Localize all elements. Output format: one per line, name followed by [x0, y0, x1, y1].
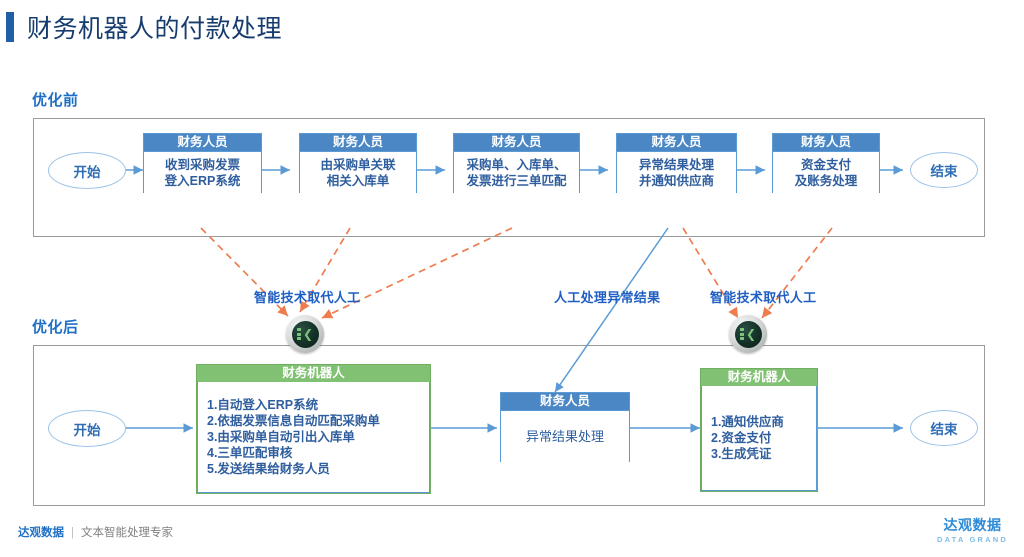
before-step-2-line-2: 相关入库单	[327, 173, 390, 189]
after-step-3-line-3: 3.生成凭证	[711, 446, 771, 462]
section-label-before: 优化前	[32, 89, 79, 110]
robot-bars-icon	[297, 328, 301, 340]
after-step-1-line-1: 1.自动登入ERP系统	[207, 397, 318, 413]
footer-tagline: 文本智能处理专家	[81, 524, 173, 540]
before-step-2-body: 由采购单关联 相关入库单	[300, 151, 416, 193]
after-step-3-body: 1.通知供应商 2.资金支付 3.生成凭证	[701, 386, 817, 491]
end-node-before: 结束	[910, 152, 978, 188]
after-step-2: 财务人员 异常结果处理	[500, 392, 630, 462]
after-step-3: 财务机器人 1.通知供应商 2.资金支付 3.生成凭证	[700, 368, 818, 492]
before-step-2-header: 财务人员	[300, 134, 416, 151]
before-step-1-body: 收到采购发票 登入ERP系统	[144, 151, 261, 193]
before-step-3: 财务人员 采购单、入库单、 发票进行三单匹配	[453, 133, 580, 193]
start-node-before-label: 开始	[74, 161, 101, 181]
start-node-after-label: 开始	[74, 419, 101, 439]
start-node-before: 开始	[48, 152, 126, 189]
before-step-5-header: 财务人员	[773, 134, 879, 151]
title-text: 财务机器人的付款处理	[27, 9, 282, 45]
after-step-3-line-1: 1.通知供应商	[711, 414, 784, 430]
before-step-2-line-1: 由采购单关联	[320, 157, 395, 173]
footer-brand: 达观数据	[18, 524, 64, 540]
before-step-5-line-1: 资金支付	[801, 157, 851, 173]
end-node-before-label: 结束	[931, 160, 958, 180]
robot-icon-2-core: ❮	[735, 321, 762, 348]
before-step-4: 财务人员 异常结果处理 并通知供应商	[616, 133, 737, 193]
before-step-4-line-2: 并通知供应商	[639, 173, 714, 189]
before-step-4-header: 财务人员	[617, 134, 736, 151]
robot-chevron-icon: ❮	[746, 328, 756, 340]
annotation-replace-manual-1: 智能技术取代人工	[254, 287, 360, 306]
after-step-1-line-5: 5.发送结果给财务人员	[207, 461, 330, 477]
after-step-2-body: 异常结果处理	[501, 410, 629, 462]
robot-icon-1-core: ❮	[292, 321, 319, 348]
footer-separator: |	[71, 527, 74, 539]
before-step-4-body: 异常结果处理 并通知供应商	[617, 151, 736, 193]
before-step-4-line-1: 异常结果处理	[639, 157, 714, 173]
before-step-3-header: 财务人员	[454, 134, 579, 151]
end-node-after: 结束	[910, 410, 978, 446]
robot-icon-1: ❮	[286, 315, 324, 353]
annotation-replace-manual-2: 智能技术取代人工	[710, 287, 816, 306]
before-step-5-body: 资金支付 及账务处理	[773, 151, 879, 193]
company-logo-cn: 达观数据	[937, 518, 1008, 533]
robot-chevron-icon: ❮	[303, 328, 313, 340]
annotation-manual-exception: 人工处理异常结果	[554, 287, 660, 306]
robot-bars-icon	[740, 328, 744, 340]
start-node-after: 开始	[48, 410, 126, 447]
before-step-1-header: 财务人员	[144, 134, 261, 151]
before-step-1-line-1: 收到采购发票	[165, 157, 240, 173]
slide-root: 财务机器人的付款处理 优化前 优化后	[0, 0, 1024, 557]
page-title: 财务机器人的付款处理	[0, 8, 282, 46]
before-step-1: 财务人员 收到采购发票 登入ERP系统	[143, 133, 262, 193]
before-step-2: 财务人员 由采购单关联 相关入库单	[299, 133, 417, 193]
before-step-1-line-2: 登入ERP系统	[165, 173, 241, 189]
section-label-after: 优化后	[32, 316, 79, 337]
after-step-3-header: 财务机器人	[701, 369, 817, 386]
robot-icon-2: ❮	[729, 315, 767, 353]
before-step-5-line-2: 及账务处理	[795, 173, 858, 189]
title-accent-bar	[6, 12, 14, 42]
after-step-2-header: 财务人员	[501, 393, 629, 410]
after-step-1-header: 财务机器人	[197, 365, 430, 382]
end-node-after-label: 结束	[931, 418, 958, 438]
after-step-1-line-2: 2.依据发票信息自动匹配采购单	[207, 413, 380, 429]
before-step-5: 财务人员 资金支付 及账务处理	[772, 133, 880, 193]
before-step-3-line-2: 发票进行三单匹配	[466, 173, 566, 189]
company-logo: 达观数据 DATA GRAND	[937, 518, 1008, 545]
after-step-1-line-4: 4.三单匹配审核	[207, 445, 292, 461]
after-step-1-body: 1.自动登入ERP系统 2.依据发票信息自动匹配采购单 3.由采购单自动引出入库…	[197, 382, 430, 493]
company-logo-en: DATA GRAND	[937, 535, 1008, 545]
after-step-3-line-2: 2.资金支付	[711, 430, 771, 446]
after-step-2-line-1: 异常结果处理	[526, 429, 604, 445]
footer: 达观数据 | 文本智能处理专家	[18, 524, 173, 540]
after-step-1-line-3: 3.由采购单自动引出入库单	[207, 429, 355, 445]
before-step-3-line-1: 采购单、入库单、	[466, 157, 566, 173]
before-step-3-body: 采购单、入库单、 发票进行三单匹配	[454, 151, 579, 193]
after-step-1: 财务机器人 1.自动登入ERP系统 2.依据发票信息自动匹配采购单 3.由采购单…	[196, 364, 431, 494]
